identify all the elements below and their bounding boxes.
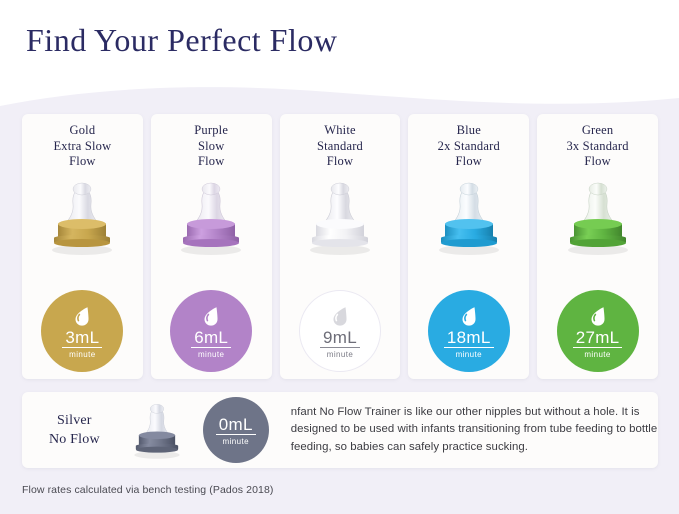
heading-line-3: Flow — [22, 154, 143, 170]
flow-card-gold[interactable]: Gold Extra Slow Flow — [22, 114, 143, 379]
card-heading: Green 3x Standard Flow — [537, 123, 658, 170]
heading-line-2: 2x Standard — [408, 139, 529, 155]
no-flow-panel[interactable]: Silver No Flow — [22, 392, 658, 468]
bottle-nipple-icon — [290, 176, 390, 258]
bottle-nipple-icon — [117, 399, 197, 461]
flow-card-blue[interactable]: Blue 2x Standard Flow — [408, 114, 529, 379]
water-drop-icon — [327, 303, 353, 329]
bottle-nipple-icon — [548, 176, 648, 258]
water-drop-icon — [585, 303, 611, 329]
flow-rate-value: 18mL — [444, 328, 494, 348]
flow-rate-unit: minute — [198, 350, 224, 359]
flow-rate-value: 27mL — [573, 328, 623, 348]
flow-rate-unit: minute — [69, 350, 95, 359]
card-heading: Gold Extra Slow Flow — [22, 123, 143, 170]
heading-line-3: Flow — [151, 154, 272, 170]
heading-line-2: Standard — [280, 139, 401, 155]
flow-rate-badge: 27mL minute — [557, 290, 639, 372]
flow-rate-unit: minute — [327, 350, 353, 359]
heading-line-1: Green — [537, 123, 658, 139]
no-flow-rate-value: 0mL — [216, 415, 256, 435]
no-flow-description: nfant No Flow Trainer is like our other … — [291, 404, 658, 457]
heading-line-3: Flow — [408, 154, 529, 170]
no-flow-heading: Silver No Flow — [26, 411, 123, 449]
bottle-nipple-icon — [32, 176, 132, 258]
flow-rate-value: 6mL — [191, 328, 231, 348]
infographic-page: Find Your Perfect Flow Gold Extra Slow F… — [0, 0, 679, 514]
heading-line-2: Extra Slow — [22, 139, 143, 155]
heading-line-3: Flow — [280, 154, 401, 170]
water-drop-icon — [456, 303, 482, 329]
flow-card-white[interactable]: White Standard Flow — [280, 114, 401, 379]
bottle-nipple-icon — [161, 176, 261, 258]
flow-card-row: Gold Extra Slow Flow — [22, 114, 658, 379]
no-flow-rate-badge: 0mL minute — [203, 397, 269, 463]
heading-line-1: White — [280, 123, 401, 139]
flow-rate-badge: 18mL minute — [428, 290, 510, 372]
heading-line-3: Flow — [537, 154, 658, 170]
no-flow-rate-unit: minute — [223, 437, 249, 446]
flow-rate-unit: minute — [584, 350, 610, 359]
no-flow-heading-line-2: No Flow — [26, 430, 123, 449]
footnote: Flow rates calculated via bench testing … — [22, 484, 274, 496]
card-heading: Blue 2x Standard Flow — [408, 123, 529, 170]
flow-rate-unit: minute — [456, 350, 482, 359]
flow-rate-badge: 9mL minute — [299, 290, 381, 372]
bottle-nipple-icon — [419, 176, 519, 258]
water-drop-icon — [69, 303, 95, 329]
flow-rate-badge: 3mL minute — [41, 290, 123, 372]
flow-card-green[interactable]: Green 3x Standard Flow — [537, 114, 658, 379]
card-heading: Purple Slow Flow — [151, 123, 272, 170]
flow-rate-value: 3mL — [62, 328, 102, 348]
heading-line-1: Blue — [408, 123, 529, 139]
heading-line-2: Slow — [151, 139, 272, 155]
no-flow-heading-line-1: Silver — [26, 411, 123, 430]
heading-line-2: 3x Standard — [537, 139, 658, 155]
flow-rate-badge: 6mL minute — [170, 290, 252, 372]
heading-line-1: Purple — [151, 123, 272, 139]
flow-rate-value: 9mL — [320, 328, 360, 348]
water-drop-icon — [198, 303, 224, 329]
flow-card-purple[interactable]: Purple Slow Flow — [151, 114, 272, 379]
heading-line-1: Gold — [22, 123, 143, 139]
page-title: Find Your Perfect Flow — [26, 22, 337, 59]
card-heading: White Standard Flow — [280, 123, 401, 170]
